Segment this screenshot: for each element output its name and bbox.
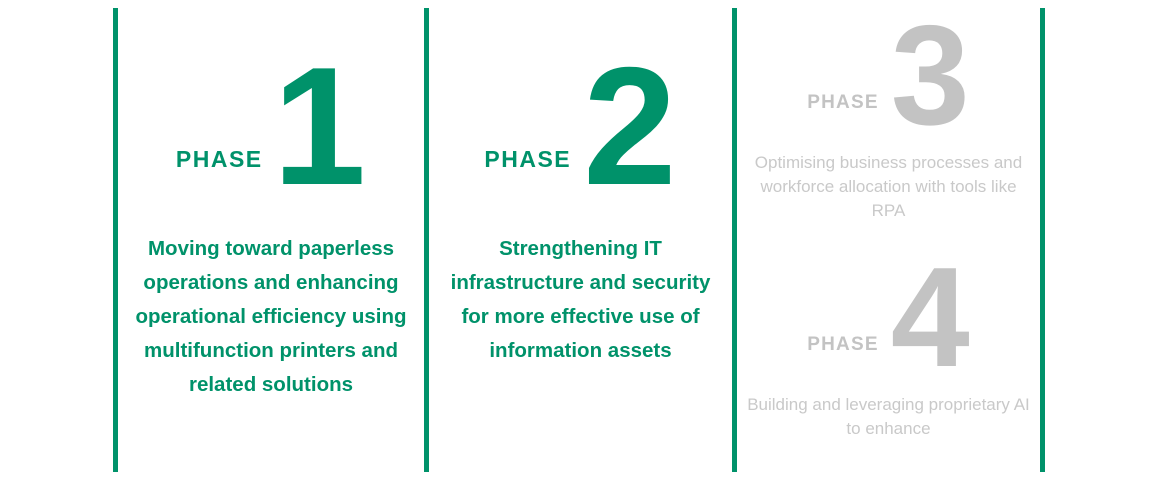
phase-roadmap: PHASE 1 Moving toward paperless operatio…	[0, 0, 1160, 480]
phase-1-number: 1	[273, 58, 366, 196]
phase-4-heading: PHASE 4	[737, 260, 1040, 376]
phase-1-heading: PHASE 1	[118, 58, 424, 196]
phase-3-heading: PHASE 3	[737, 18, 1040, 134]
phase-3-number: 3	[891, 18, 970, 134]
phase-panel-3: PHASE 3 Optimising business processes an…	[737, 0, 1040, 240]
phase-2-description: Strengthening IT infrastructure and secu…	[429, 232, 732, 368]
phase-4-number: 4	[891, 260, 970, 376]
phase-panel-1: PHASE 1 Moving toward paperless operatio…	[118, 0, 424, 480]
phase-1-label: PHASE	[176, 148, 263, 171]
phase-4-description: Building and leveraging proprietary AI t…	[737, 393, 1040, 441]
phase-panel-2: PHASE 2 Strengthening IT infrastructure …	[429, 0, 732, 480]
phase-3-label: PHASE	[807, 93, 878, 112]
phase-2-heading: PHASE 2	[429, 58, 732, 196]
divider-rule-4	[1040, 8, 1045, 472]
phase-4-label: PHASE	[807, 335, 878, 354]
phase-3-description: Optimising business processes and workfo…	[737, 151, 1040, 223]
phase-1-description: Moving toward paperless operations and e…	[118, 232, 424, 402]
phase-2-number: 2	[583, 58, 676, 196]
phase-2-label: PHASE	[484, 148, 571, 171]
phase-panel-4: PHASE 4 Building and leveraging propriet…	[737, 250, 1040, 480]
